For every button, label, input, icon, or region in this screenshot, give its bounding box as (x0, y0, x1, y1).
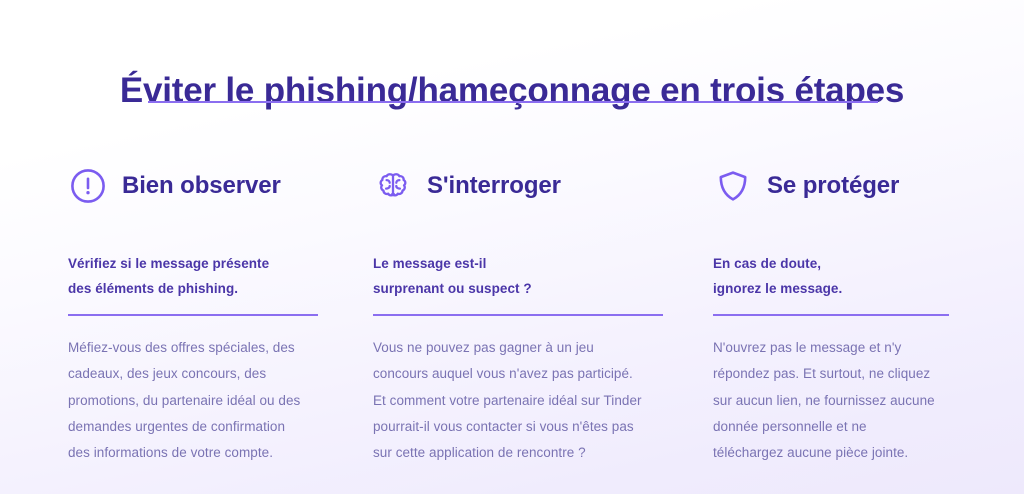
step-title: Se protéger (767, 172, 899, 200)
step-body-line: concours auquel vous n'avez pas particip… (373, 361, 669, 387)
step-body: N'ouvrez pas le message et n'y répondez … (713, 335, 961, 467)
infographic-poster: Éviter le phishing/hameçonnage en trois … (0, 0, 1024, 494)
step-body-line: sur cette application de rencontre ? (373, 440, 669, 466)
step-lead-line: En cas de doute, (713, 252, 1013, 277)
step-divider (713, 314, 949, 316)
step-title: Bien observer (122, 172, 281, 200)
step-lead-line: Le message est-il (373, 252, 673, 277)
shield-icon (713, 166, 753, 206)
step-body-line: téléchargez aucune pièce jointe. (713, 440, 961, 466)
step-body-line: répondez pas. Et surtout, ne cliquez (713, 361, 961, 387)
brain-icon (373, 166, 413, 206)
page-title: Éviter le phishing/hameçonnage en trois … (116, 71, 908, 121)
step-header: Bien observer (68, 158, 368, 214)
step-body-line: Vous ne pouvez pas gagner à un jeu (373, 335, 669, 361)
step-lead: Vérifiez si le message présente des élém… (68, 252, 368, 301)
step-lead: Le message est-il surprenant ou suspect … (373, 252, 673, 301)
step-divider (373, 314, 663, 316)
step-lead-line: Vérifiez si le message présente (68, 252, 368, 277)
step-lead: En cas de doute, ignorez le message. (713, 252, 1013, 301)
step-body: Vous ne pouvez pas gagner à un jeu conco… (373, 335, 669, 467)
step-column-observer: Bien observer Vérifiez si le message pré… (68, 158, 368, 467)
step-lead-line: des éléments de phishing. (68, 277, 368, 302)
step-body-line: donnée personnelle et ne (713, 414, 961, 440)
steps-columns: Bien observer Vérifiez si le message pré… (0, 158, 1024, 478)
step-header: Se protéger (713, 158, 1013, 214)
step-divider (68, 314, 318, 316)
step-body-line: promotions, du partenaire idéal ou des (68, 388, 326, 414)
step-body-line: Et comment votre partenaire idéal sur Ti… (373, 388, 669, 414)
step-header: S'interroger (373, 158, 673, 214)
step-body: Méfiez-vous des offres spéciales, des ca… (68, 335, 326, 467)
step-body-line: pourrait-il vous contacter si vous n'ête… (373, 414, 669, 440)
step-body-line: des informations de votre compte. (68, 440, 326, 466)
step-body-line: sur aucun lien, ne fournissez aucune (713, 388, 961, 414)
step-title: S'interroger (427, 172, 561, 200)
title-underline (148, 101, 878, 103)
step-column-proteger: Se protéger En cas de doute, ignorez le … (713, 158, 1013, 467)
step-body-line: N'ouvrez pas le message et n'y (713, 335, 961, 361)
page-title-block: Éviter le phishing/hameçonnage en trois … (0, 48, 1024, 145)
step-column-interroger: S'interroger Le message est-il surprenan… (373, 158, 673, 467)
step-body-line: Méfiez-vous des offres spéciales, des (68, 335, 326, 361)
step-lead-line: surprenant ou suspect ? (373, 277, 673, 302)
step-body-line: cadeaux, des jeux concours, des (68, 361, 326, 387)
exclamation-circle-icon (68, 166, 108, 206)
step-body-line: demandes urgentes de confirmation (68, 414, 326, 440)
step-lead-line: ignorez le message. (713, 277, 1013, 302)
